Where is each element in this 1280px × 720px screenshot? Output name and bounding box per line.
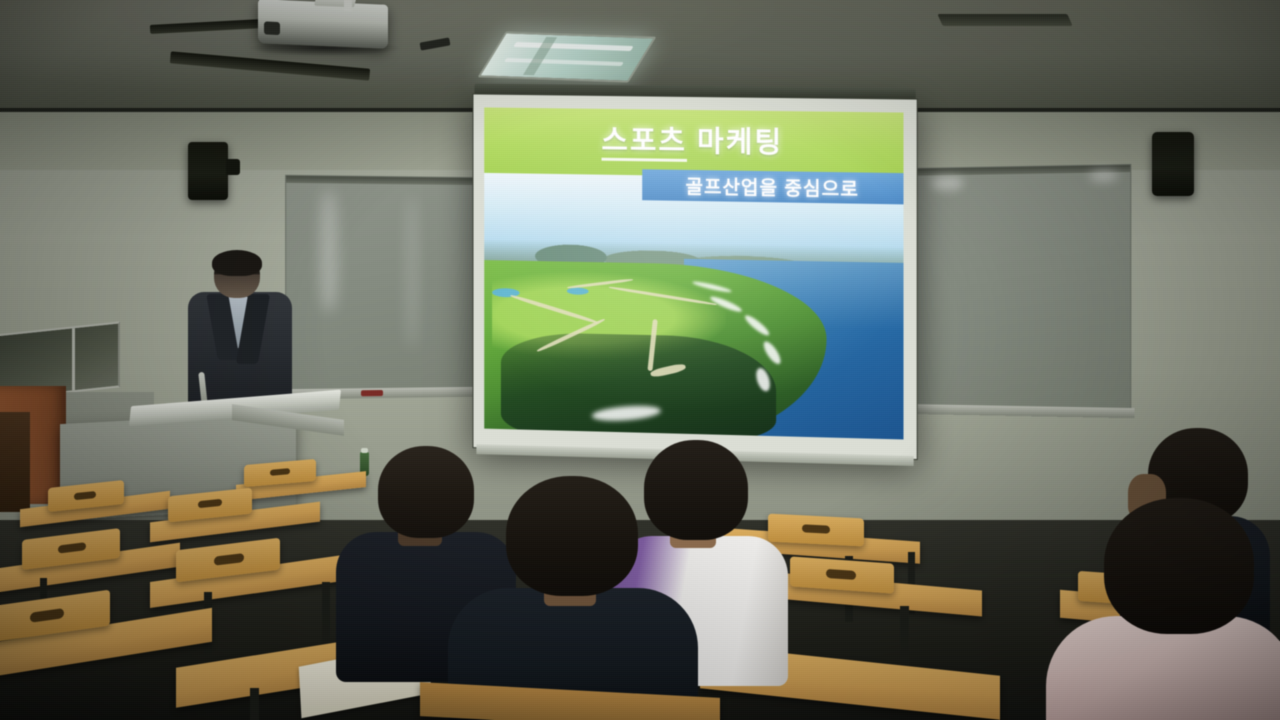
glare-highlight xyxy=(321,190,337,311)
speaker-left xyxy=(188,142,228,200)
lecture-hall-photo: 스포츠 마케팅 골프산업을 중심으로 xyxy=(0,0,1280,720)
projector-arm xyxy=(344,0,352,11)
light-tube xyxy=(504,57,624,65)
whiteboard-right xyxy=(908,164,1131,410)
slide-title-underlined: 스포츠 xyxy=(601,125,687,162)
slide-subtitle: 골프산업을 중심으로 xyxy=(686,172,859,202)
window-mullion xyxy=(72,328,75,390)
projector xyxy=(258,0,388,49)
projection-screen: 스포츠 마케팅 골프산업을 중심으로 xyxy=(472,93,917,460)
slide-title-plain: 마케팅 xyxy=(687,126,783,159)
desk-leg xyxy=(250,688,259,720)
chair-handle-slot xyxy=(270,468,290,476)
chair-handle-slot xyxy=(198,499,222,509)
student-5 xyxy=(1046,498,1280,720)
student-head xyxy=(1104,498,1254,634)
glare-highlight xyxy=(407,197,417,347)
chair-handle-slot xyxy=(214,553,244,566)
glare-highlight xyxy=(1089,169,1118,182)
chair-handle-slot xyxy=(802,524,830,533)
projector-lens-icon xyxy=(264,21,280,35)
presenter-hair xyxy=(212,250,262,276)
slide: 스포츠 마케팅 골프산업을 중심으로 xyxy=(484,107,903,439)
slide-photo xyxy=(484,173,903,440)
chair-handle-slot xyxy=(58,542,86,553)
student-2 xyxy=(448,476,698,720)
whiteboard-marker xyxy=(361,390,383,396)
ceiling-vent-icon xyxy=(937,14,1072,26)
speaker-bracket xyxy=(226,159,240,175)
slide-subtitle-bar: 골프산업을 중심으로 xyxy=(642,169,904,204)
chair-handle-slot xyxy=(30,608,64,623)
chair-handle-slot xyxy=(826,569,856,580)
speaker-right xyxy=(1152,132,1194,196)
slide-title: 스포츠 마케팅 xyxy=(484,115,903,163)
chair-handle-slot xyxy=(74,491,96,500)
whiteboard-frame xyxy=(286,176,478,185)
whiteboard-left xyxy=(285,175,479,391)
cabinet-shadow xyxy=(0,412,30,512)
light-tube xyxy=(513,42,633,50)
glare-highlight xyxy=(931,176,964,190)
student-head xyxy=(506,476,638,596)
ceiling-light xyxy=(478,31,657,82)
desk-leg xyxy=(322,582,330,644)
